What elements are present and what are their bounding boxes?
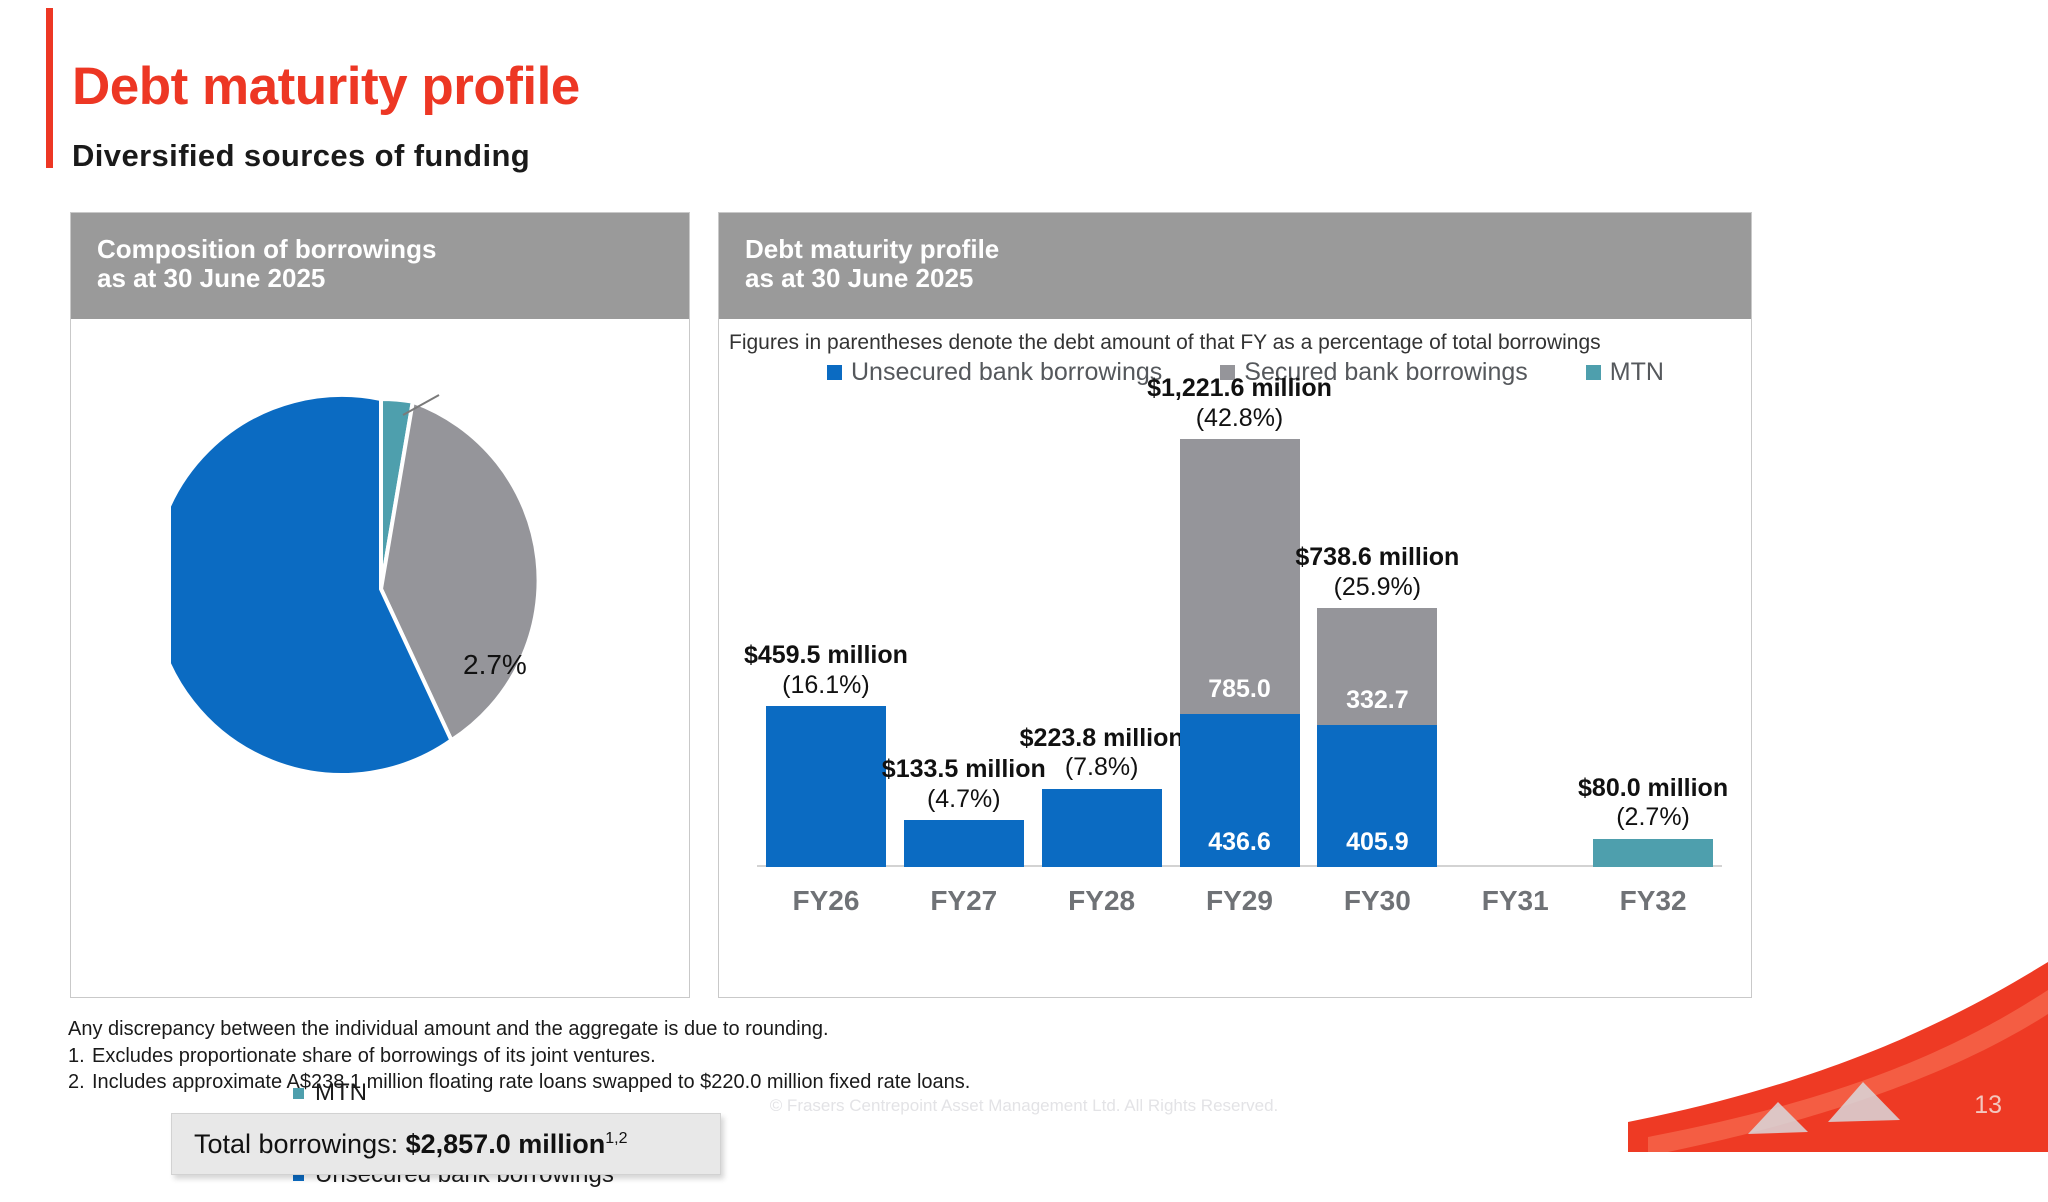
bar-segment-fy27 bbox=[904, 820, 1024, 867]
title-accent-bar bbox=[46, 8, 53, 168]
left-panel-header: Composition of borrowings as at 30 June … bbox=[71, 213, 689, 319]
total-borrowings-superscript: 1,2 bbox=[605, 1130, 627, 1147]
footnote-2-text: Includes approximate A$238.1 million flo… bbox=[92, 1071, 970, 1093]
composition-of-borrowings-panel: Composition of borrowings as at 30 June … bbox=[70, 212, 690, 998]
copyright-notice: © Frasers Centrepoint Asset Management L… bbox=[0, 1096, 2048, 1116]
pie-label-mtn: 2.7% bbox=[463, 649, 527, 681]
footnote-2-number: 2. bbox=[68, 1069, 92, 1096]
total-borrowings-text: Total borrowings: $2,857.0 million1,2 bbox=[172, 1129, 627, 1160]
bar-segment-fy30: 405.9 bbox=[1317, 725, 1437, 867]
bar-total-percent: (42.8%) bbox=[1105, 404, 1375, 434]
bar-column-fy32: $80.0 million(2.7%) bbox=[1593, 839, 1713, 867]
bar-segment-value: 785.0 bbox=[1180, 675, 1300, 704]
x-axis-tick-fy29: FY29 bbox=[1160, 885, 1320, 917]
bar-total-amount: $738.6 million bbox=[1242, 543, 1512, 573]
bar-total-label-fy32: $80.0 million(2.7%) bbox=[1518, 774, 1788, 833]
left-panel-header-line2: as at 30 June 2025 bbox=[97, 264, 689, 293]
debt-maturity-profile-panel: Debt maturity profile as at 30 June 2025… bbox=[718, 212, 1752, 998]
page-title: Debt maturity profile bbox=[72, 60, 580, 113]
bar-segment-value: 332.7 bbox=[1317, 686, 1437, 715]
x-axis-tick-fy26: FY26 bbox=[746, 885, 906, 917]
borrowings-pie-chart bbox=[171, 379, 591, 799]
bar-segment-fy29: 436.6 bbox=[1180, 714, 1300, 867]
right-panel-header-line1: Debt maturity profile bbox=[745, 235, 1751, 264]
footnote-1-number: 1. bbox=[68, 1043, 92, 1070]
bar-total-percent: (25.9%) bbox=[1242, 573, 1512, 603]
bar-total-label-fy26: $459.5 million(16.1%) bbox=[691, 641, 961, 700]
pie-label-unsecured: 58.2% bbox=[293, 853, 375, 886]
bar-total-amount: $80.0 million bbox=[1518, 774, 1788, 804]
bar-total-percent: (2.7%) bbox=[1518, 803, 1788, 833]
x-axis-tick-fy32: FY32 bbox=[1573, 885, 1733, 917]
bar-legend-label-mtn: MTN bbox=[1610, 358, 1664, 387]
pie-label-secured: 39.1% bbox=[501, 859, 583, 892]
bar-column-fy28: $223.8 million(7.8%) bbox=[1042, 789, 1162, 867]
footnote-2: 2.Includes approximate A$238.1 million f… bbox=[68, 1069, 970, 1096]
x-axis-tick-fy31: FY31 bbox=[1435, 885, 1595, 917]
bar-segment-fy30: 332.7 bbox=[1317, 608, 1437, 725]
bar-segment-fy28 bbox=[1042, 789, 1162, 867]
total-borrowings-value: $2,857.0 million bbox=[406, 1129, 606, 1159]
footnote-1: 1.Excludes proportionate share of borrow… bbox=[68, 1043, 970, 1070]
right-panel-header: Debt maturity profile as at 30 June 2025 bbox=[719, 213, 1751, 319]
pie-chart-area: 2.7% 58.2% 39.1% MTN Secured bank borrow… bbox=[71, 319, 689, 997]
bar-segment-value: 436.6 bbox=[1180, 828, 1300, 857]
bar-legend-swatch-mtn-icon bbox=[1586, 365, 1601, 380]
chart-note: Figures in parentheses denote the debt a… bbox=[729, 331, 1601, 355]
x-axis-tick-fy27: FY27 bbox=[884, 885, 1044, 917]
bar-total-amount: $459.5 million bbox=[691, 641, 961, 671]
bar-total-label-fy29: $1,221.6 million(42.8%) bbox=[1105, 374, 1375, 433]
bar-legend-swatch-unsecured-icon bbox=[827, 365, 842, 380]
page-subtitle: Diversified sources of funding bbox=[72, 140, 530, 171]
x-axis-tick-fy28: FY28 bbox=[1022, 885, 1182, 917]
bar-segment-value: 405.9 bbox=[1317, 828, 1437, 857]
bar-total-label-fy30: $738.6 million(25.9%) bbox=[1242, 543, 1512, 602]
left-panel-header-line1: Composition of borrowings bbox=[97, 235, 689, 264]
footnotes: Any discrepancy between the individual a… bbox=[68, 1016, 970, 1096]
bar-column-fy30: 332.7405.9$738.6 million(25.9%) bbox=[1317, 608, 1437, 867]
bar-column-fy27: $133.5 million(4.7%) bbox=[904, 820, 1024, 867]
footnote-1-text: Excludes proportionate share of borrowin… bbox=[92, 1045, 656, 1067]
bar-total-percent: (16.1%) bbox=[691, 671, 961, 701]
debt-maturity-bar-chart: FY26$459.5 million(16.1%)FY27$133.5 mill… bbox=[757, 409, 1722, 925]
bar-legend-item-mtn: MTN bbox=[1586, 358, 1664, 387]
right-panel-header-line2: as at 30 June 2025 bbox=[745, 264, 1751, 293]
bar-segment-fy32 bbox=[1593, 839, 1713, 867]
bar-total-amount: $1,221.6 million bbox=[1105, 374, 1375, 404]
total-borrowings-box: Total borrowings: $2,857.0 million1,2 bbox=[171, 1113, 721, 1175]
footnote-intro: Any discrepancy between the individual a… bbox=[68, 1016, 970, 1043]
total-borrowings-prefix: Total borrowings: bbox=[194, 1129, 406, 1159]
x-axis-tick-fy30: FY30 bbox=[1297, 885, 1457, 917]
bar-column-fy29: 785.0436.6$1,221.6 million(42.8%) bbox=[1180, 439, 1300, 867]
